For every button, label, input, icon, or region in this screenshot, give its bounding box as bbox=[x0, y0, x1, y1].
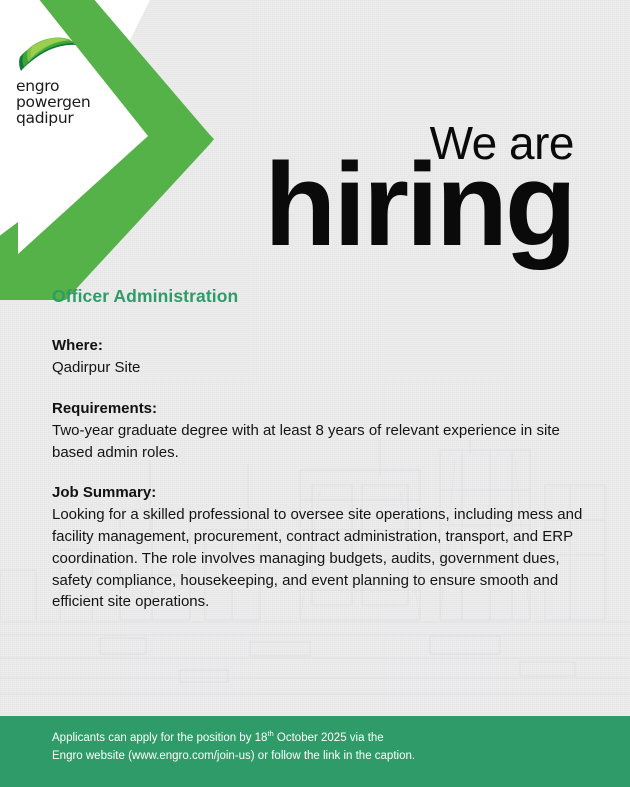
section-job-summary: Job Summary: Looking for a skilled profe… bbox=[52, 484, 592, 613]
section-body-job-summary: Looking for a skilled professional to ov… bbox=[52, 504, 592, 613]
footer-line-1-after: October 2025 via the bbox=[274, 732, 384, 744]
section-body-requirements: Two-year graduate degree with at least 8… bbox=[52, 420, 592, 464]
logo-word-line-2: powergen bbox=[16, 94, 116, 110]
section-label-where: Where: bbox=[52, 337, 592, 354]
section-label-job-summary: Job Summary: bbox=[52, 484, 592, 501]
engro-leaf-mark bbox=[16, 37, 78, 73]
section-label-requirements: Requirements: bbox=[52, 400, 592, 417]
section-requirements: Requirements: Two-year graduate degree w… bbox=[52, 400, 592, 464]
section-where: Where: Qadirpur Site bbox=[52, 337, 592, 379]
logo-word-line-3: qadipur bbox=[16, 110, 116, 126]
posting-content: Officer Administration Where: Qadirpur S… bbox=[52, 286, 592, 613]
footer-apply-instructions: Applicants can apply for the position by… bbox=[52, 730, 415, 766]
section-body-where: Qadirpur Site bbox=[52, 357, 592, 379]
job-title: Officer Administration bbox=[52, 286, 592, 307]
logo-wordmark: engro powergen qadipur bbox=[16, 78, 116, 126]
headline: We are hiring bbox=[264, 122, 574, 253]
engro-powergen-qadirpur-logo: engro powergen qadipur bbox=[16, 37, 116, 126]
footer-line-1-before: Applicants can apply for the position by… bbox=[52, 732, 267, 744]
footer-line-2: Engro website (www.engro.com/join-us) or… bbox=[52, 748, 415, 766]
headline-hiring: hiring bbox=[264, 158, 574, 252]
logo-word-line-1: engro bbox=[16, 78, 116, 94]
footer-line-1: Applicants can apply for the position by… bbox=[52, 730, 415, 748]
job-posting-poster: engro powergen qadipur We are hiring Off… bbox=[0, 0, 630, 787]
